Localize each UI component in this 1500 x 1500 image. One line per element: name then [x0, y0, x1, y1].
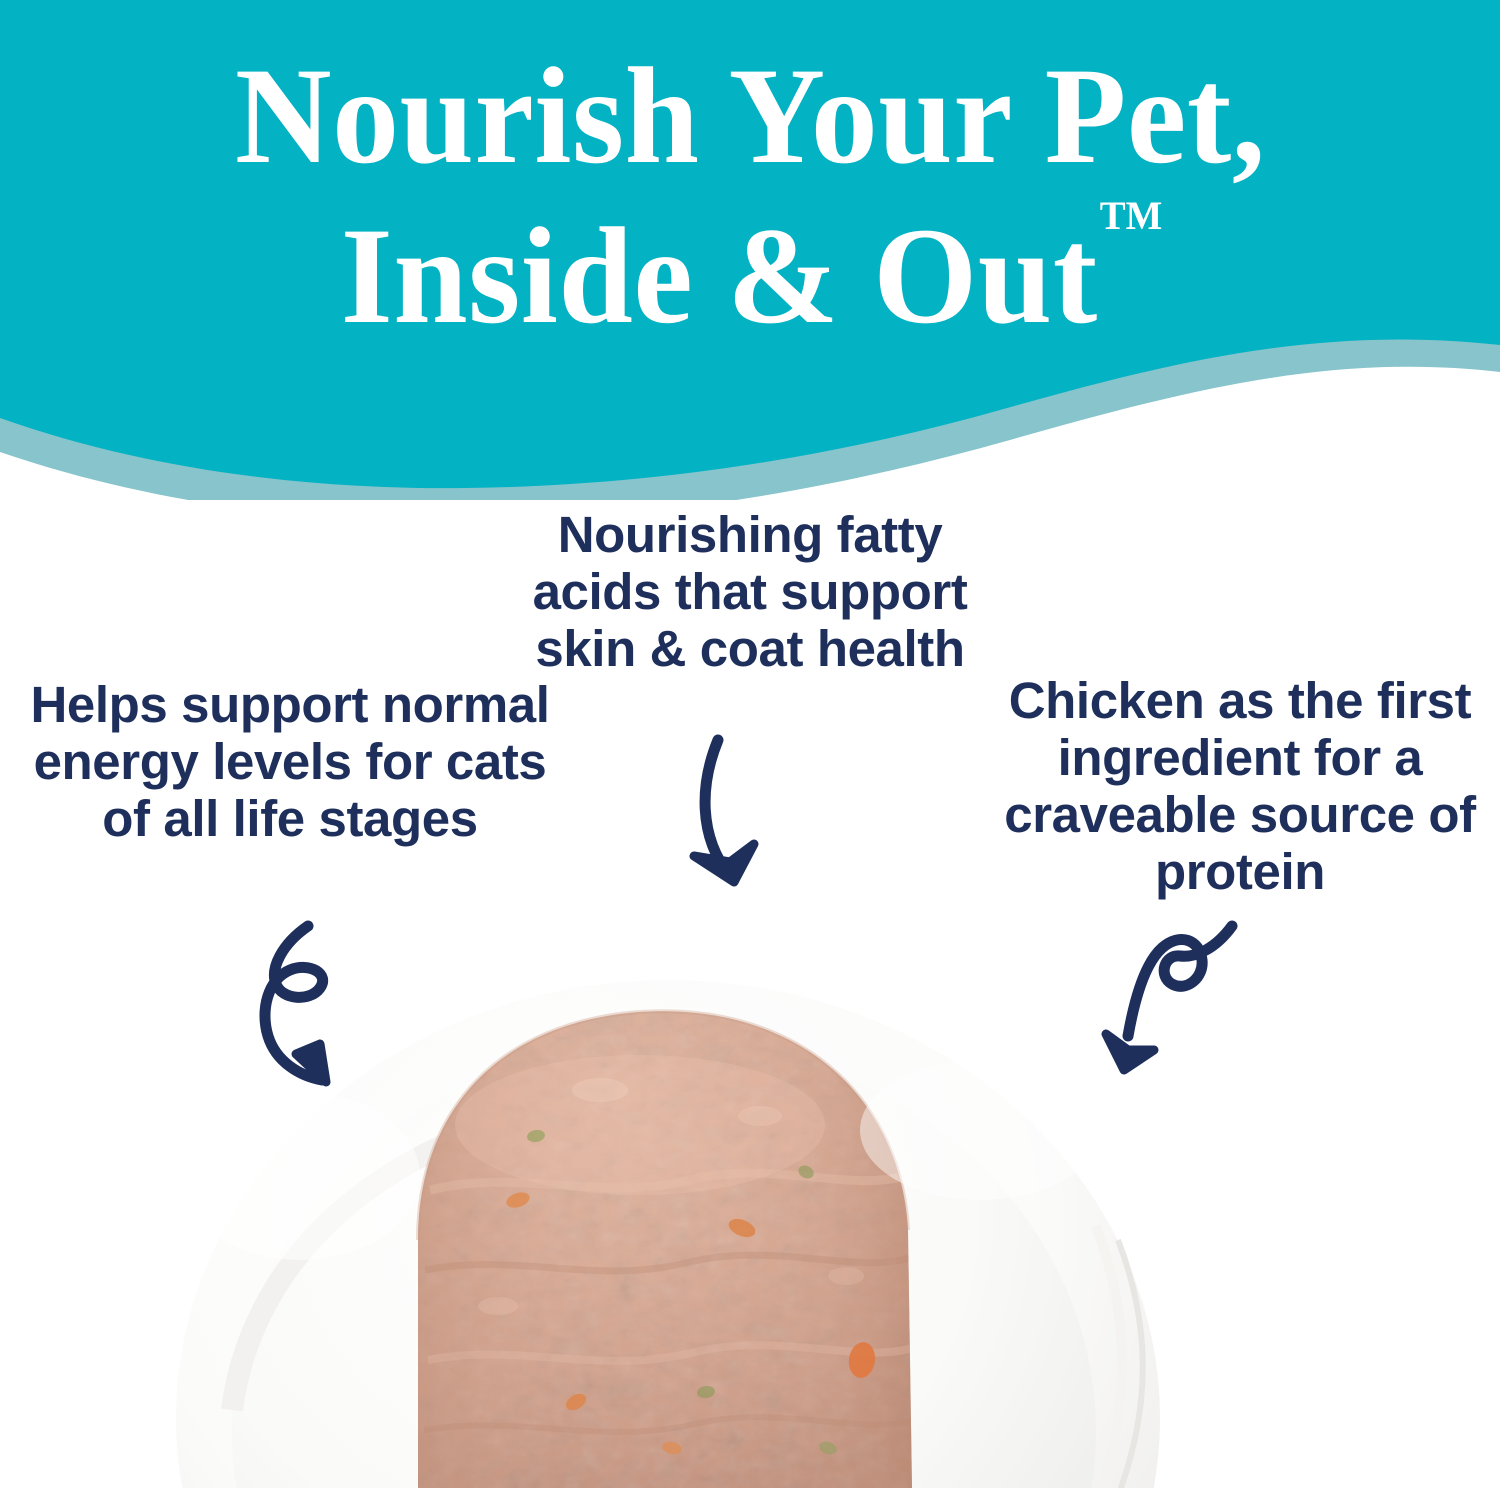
headline-line-1: Nourish Your Pet,	[235, 47, 1266, 185]
callout-fatty-acids-text: Nourishing fatty acids that support skin…	[500, 506, 1000, 677]
headline-line-2-wrap: Inside & OutTM	[340, 207, 1160, 345]
headline: Nourish Your Pet, Inside & OutTM	[0, 33, 1500, 363]
wave-teal-shape	[0, 0, 1500, 488]
arrow-down-icon	[672, 732, 802, 907]
callout-energy-text: Helps support normal energy levels for c…	[30, 676, 550, 847]
wave-light-shape	[0, 0, 1500, 500]
page-root: Nourish Your Pet, Inside & OutTM	[0, 0, 1500, 1500]
product-photo	[0, 940, 1500, 1488]
header-banner: Nourish Your Pet, Inside & OutTM	[0, 0, 1500, 500]
bottom-white-strip	[0, 1488, 1500, 1500]
trademark-mark: TM	[1099, 193, 1162, 238]
callout-chicken-text: Chicken as the first ingredient for a cr…	[995, 672, 1485, 900]
headline-line-2: Inside & Out	[340, 199, 1097, 352]
